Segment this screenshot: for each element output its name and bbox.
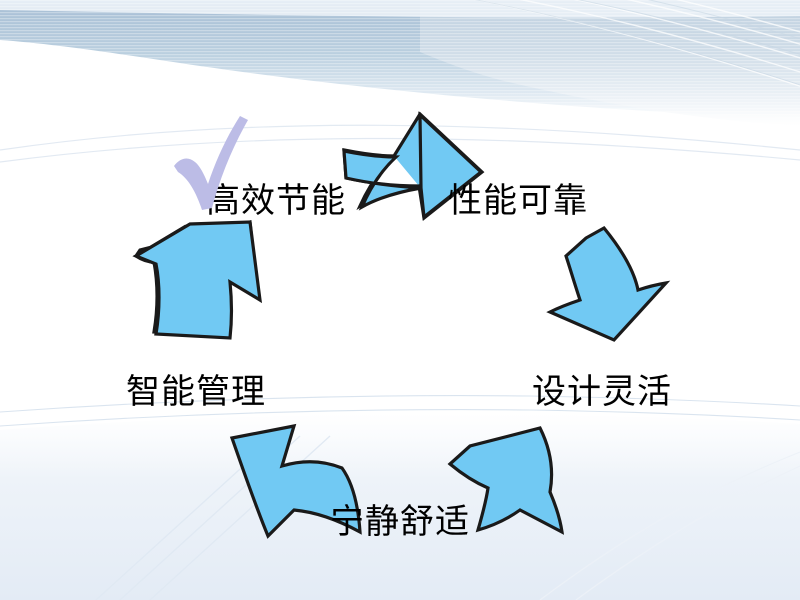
- node-label-left: 智能管理: [126, 375, 266, 409]
- cycle-diagram: 高效节能 性能可靠 设计灵活 宁静舒适 智能管理: [0, 0, 800, 600]
- presentation-slide: 高效节能 性能可靠 设计灵活 宁静舒适 智能管理: [0, 0, 800, 600]
- node-label-right: 设计灵活: [532, 375, 672, 409]
- arrow-left: [134, 218, 262, 342]
- check-mark-icon: [168, 112, 254, 212]
- arrow-right: [544, 224, 670, 344]
- node-label-bottom: 宁静舒适: [330, 505, 470, 539]
- node-label-top-right: 性能可靠: [448, 184, 588, 218]
